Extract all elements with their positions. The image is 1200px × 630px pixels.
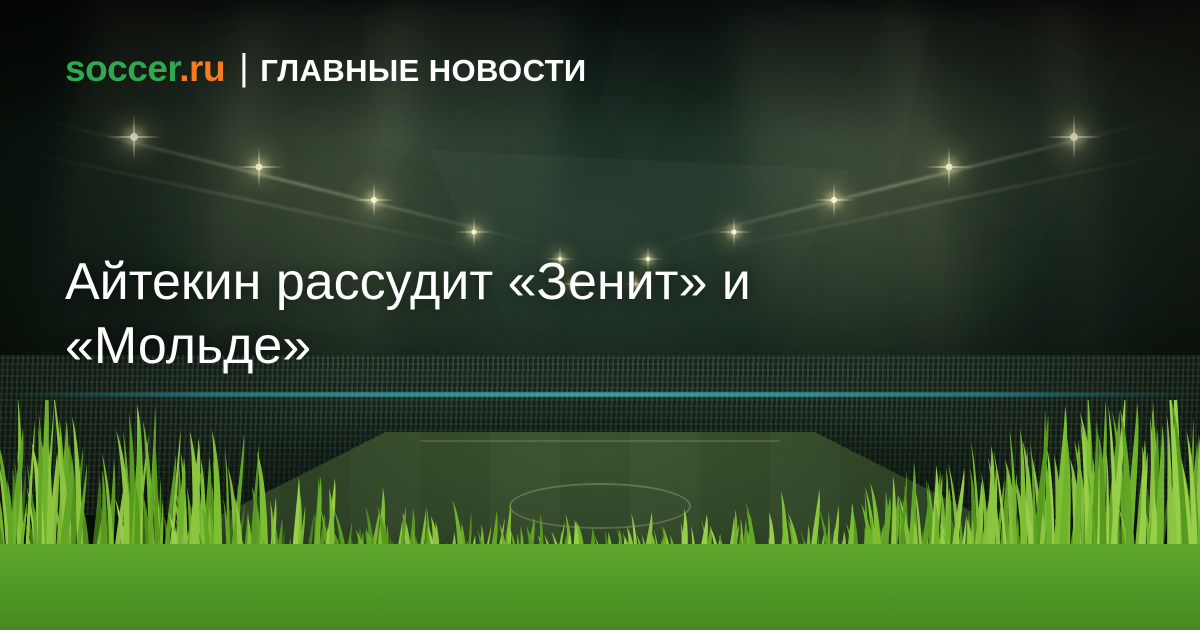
news-share-card: soccer.ru|ГЛАВНЫЕ НОВОСТИ Айтекин рассуд… (0, 0, 1200, 630)
logo-separator: | (239, 49, 248, 86)
grass-base-fill (0, 544, 1200, 630)
brand-name-tld: .ru (179, 48, 225, 89)
article-headline: Айтекин рассудит «Зенит» и «Мольде» (65, 250, 965, 378)
brand-logo[interactable]: soccer.ru|ГЛАВНЫЕ НОВОСТИ (65, 50, 587, 87)
foreground-grass (0, 400, 1200, 630)
brand-name-main: soccer (65, 48, 179, 89)
section-kicker: ГЛАВНЫЕ НОВОСТИ (260, 53, 586, 88)
